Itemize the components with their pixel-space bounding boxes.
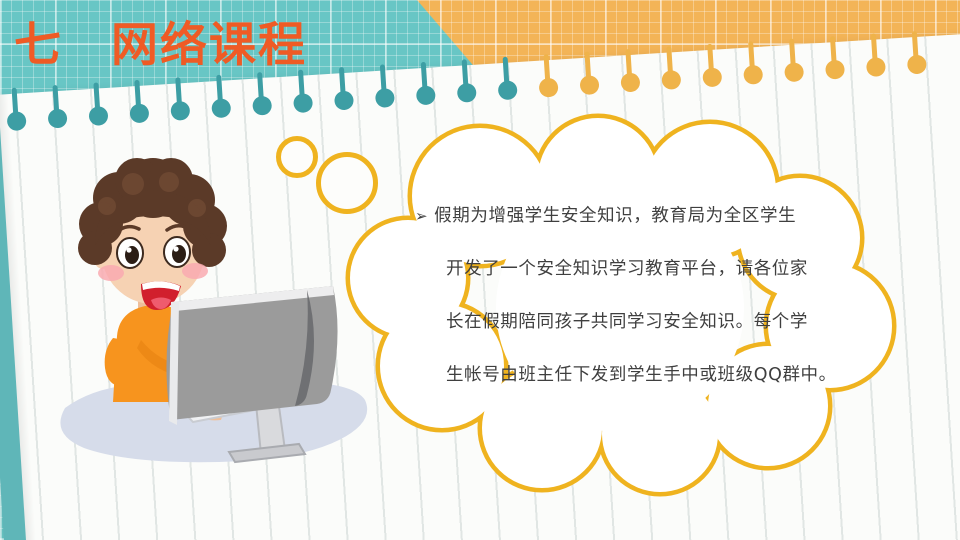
blush-right [182, 263, 208, 279]
bullet-arrow-icon: ➢ [415, 207, 428, 225]
boy-at-computer-illustration [45, 140, 375, 500]
page-title-number: 七 [14, 18, 63, 73]
cloud-line-1-text: 假期为增强学生安全知识，教育局为全区学生 [434, 206, 796, 226]
slide-root: 七网络课程 [0, 0, 960, 540]
cloud-text-line-4: 生帐号由班主任下发到学生手中或班级QQ群中。 [415, 349, 865, 402]
cloud-body-text: ➢假期为增强学生安全知识，教育局为全区学生 开发了一个安全知识学习教育平台，请各… [415, 190, 865, 402]
blush-left [98, 265, 124, 281]
page-title: 七网络课程 [14, 6, 307, 75]
cloud-text-line-3: 长在假期陪同孩子共同学习安全知识。每个学 [415, 296, 865, 349]
cloud-text-line-2: 开发了一个安全知识学习教育平台，请各位家 [415, 243, 865, 296]
cloud-text-line-1: ➢假期为增强学生安全知识，教育局为全区学生 [415, 190, 865, 243]
page-title-text: 网络课程 [111, 18, 307, 73]
